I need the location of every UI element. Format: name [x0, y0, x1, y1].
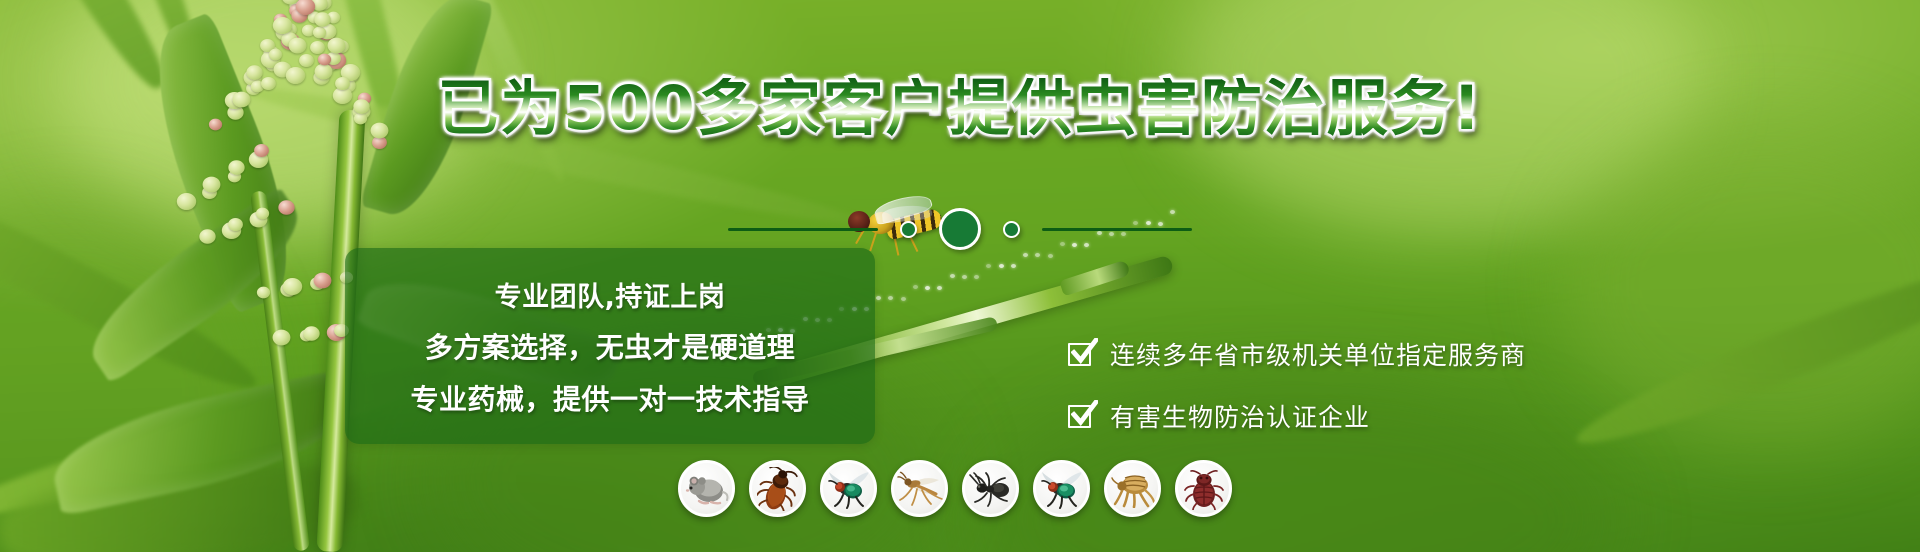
selling-point-line-3: 专业药械，提供一对一技术指导 — [363, 378, 857, 418]
divider-dot-large — [939, 208, 981, 250]
flower-bud — [269, 49, 282, 61]
dew-droplet — [999, 264, 1004, 268]
credential-label: 连续多年省市级机关单位指定服务商 — [1110, 336, 1526, 372]
dew-droplet — [1011, 264, 1016, 268]
dew-droplet — [950, 274, 955, 278]
rodent-icon[interactable] — [678, 460, 735, 517]
flower-bud — [313, 272, 331, 288]
pest-type-icon-row — [678, 460, 1232, 517]
checkbox-check-icon — [1068, 402, 1096, 430]
flower-bud — [257, 287, 270, 299]
divider-line-left — [728, 228, 878, 231]
page-title: 已为500多家客户提供虫害防治服务! — [0, 78, 1920, 139]
list-item: 连续多年省市级机关单位指定服务商 — [1068, 336, 1526, 372]
flower-bud — [289, 38, 307, 54]
credentials-list: 连续多年省市级机关单位指定服务商 有害生物防治认证企业 — [1068, 336, 1526, 434]
flower-bud — [318, 54, 331, 66]
divider-dot-small-right — [1003, 221, 1020, 238]
checkbox-check-icon — [1068, 340, 1096, 368]
decorative-divider — [0, 208, 1920, 250]
dew-droplet — [937, 286, 942, 290]
dew-droplet — [974, 275, 979, 279]
selling-point-line-1: 专业团队,持证上岗 — [363, 275, 857, 314]
flower-bud — [203, 177, 221, 193]
flower-bud — [303, 327, 319, 341]
divider-dot-small-left — [900, 221, 917, 238]
flower-bud — [311, 41, 326, 54]
flower-bud — [283, 278, 302, 295]
plant-leaf — [44, 370, 355, 516]
cockroach-icon[interactable] — [749, 460, 806, 517]
flower-bud — [313, 27, 326, 39]
dew-droplet — [913, 285, 918, 289]
blowfly-icon[interactable] — [1033, 460, 1090, 517]
credential-label: 有害生物防治认证企业 — [1110, 398, 1370, 434]
selling-points-text: 专业团队,持证上岗 多方案选择，无虫才是硬道理 专业药械，提供一对一技术指导 — [345, 248, 875, 444]
check-tick-icon — [1071, 338, 1098, 365]
check-tick-icon — [1071, 400, 1098, 427]
dew-droplet — [962, 275, 967, 279]
flower-bud — [273, 329, 291, 345]
ant-icon[interactable] — [962, 460, 1019, 517]
flea-icon[interactable] — [1104, 460, 1161, 517]
dew-droplet — [1048, 254, 1053, 258]
list-item: 有害生物防治认证企业 — [1068, 398, 1526, 434]
dew-droplet — [1023, 253, 1028, 257]
flower-bud — [299, 54, 314, 67]
dew-droplet — [925, 286, 930, 290]
dew-droplet — [888, 296, 893, 300]
dew-droplet — [986, 264, 991, 268]
promo-banner: 已为500多家客户提供虫害防治服务! 已为500多家客户提供虫害防治服务! 专业… — [0, 0, 1920, 552]
fly-icon[interactable] — [820, 460, 877, 517]
flower-bud — [296, 0, 315, 15]
mosquito-icon[interactable] — [891, 460, 948, 517]
dew-droplet — [1035, 253, 1040, 257]
dew-droplet — [876, 296, 881, 300]
dew-droplet — [901, 297, 906, 301]
selling-point-line-2: 多方案选择，无虫才是硬道理 — [363, 326, 857, 366]
flower-bud — [314, 12, 330, 26]
divider-line-right — [1042, 228, 1192, 231]
bedbug-icon[interactable] — [1175, 460, 1232, 517]
flower-bud — [315, 64, 333, 80]
